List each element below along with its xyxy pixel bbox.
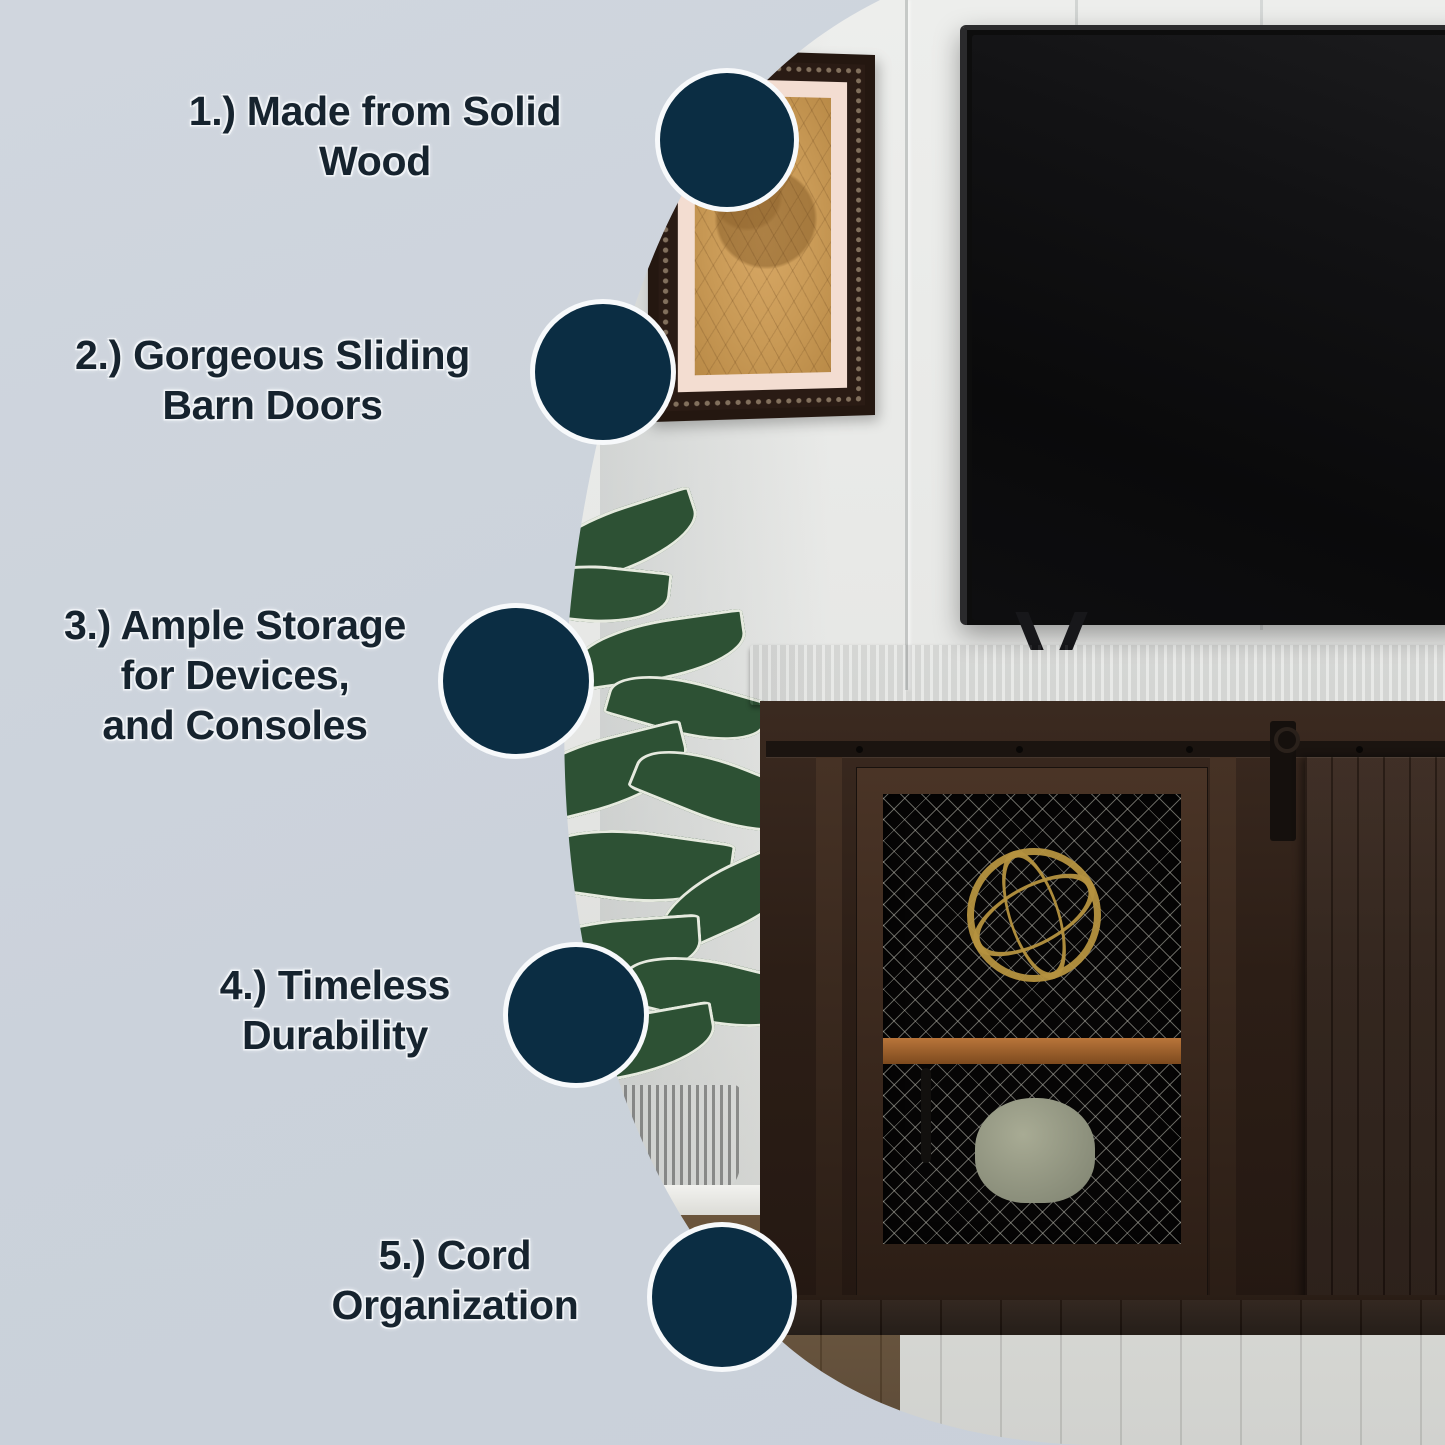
sliding-barn-door xyxy=(1305,757,1445,1313)
feature-label-2: 2.) Gorgeous Sliding Barn Doors xyxy=(10,330,535,430)
tv-screen xyxy=(972,35,1445,620)
flat-screen-tv xyxy=(960,25,1445,625)
feature-marker-2[interactable] xyxy=(535,304,671,440)
hardwood-floor xyxy=(760,1300,1445,1445)
feature-label-3: 3.) Ample Storage for Devices, and Conso… xyxy=(0,600,470,750)
feature-marker-5[interactable] xyxy=(652,1227,792,1367)
tv-console xyxy=(760,645,1445,1335)
wire-mesh-door xyxy=(856,767,1208,1309)
barn-door-track xyxy=(766,741,1445,757)
feature-label-4: 4.) Timeless Durability xyxy=(120,960,550,1060)
console-wood-top xyxy=(750,645,1445,705)
sage-vase-decor xyxy=(975,1098,1095,1203)
console-stile xyxy=(816,757,842,1313)
console-shelf xyxy=(883,1038,1181,1064)
shiplap-seam xyxy=(905,0,908,690)
woven-basket xyxy=(600,1085,740,1195)
door-pull-handle xyxy=(921,1068,931,1163)
feature-label-1: 1.) Made from Solid Wood xyxy=(95,86,655,186)
feature-marker-1[interactable] xyxy=(660,73,794,207)
feature-label-5: 5.) Cord Organization xyxy=(250,1230,660,1330)
infographic-canvas: 1.) Made from Solid Wood 2.) Gorgeous Sl… xyxy=(0,0,1445,1445)
console-stile xyxy=(1210,757,1236,1313)
barn-door-hanger xyxy=(1270,721,1296,841)
